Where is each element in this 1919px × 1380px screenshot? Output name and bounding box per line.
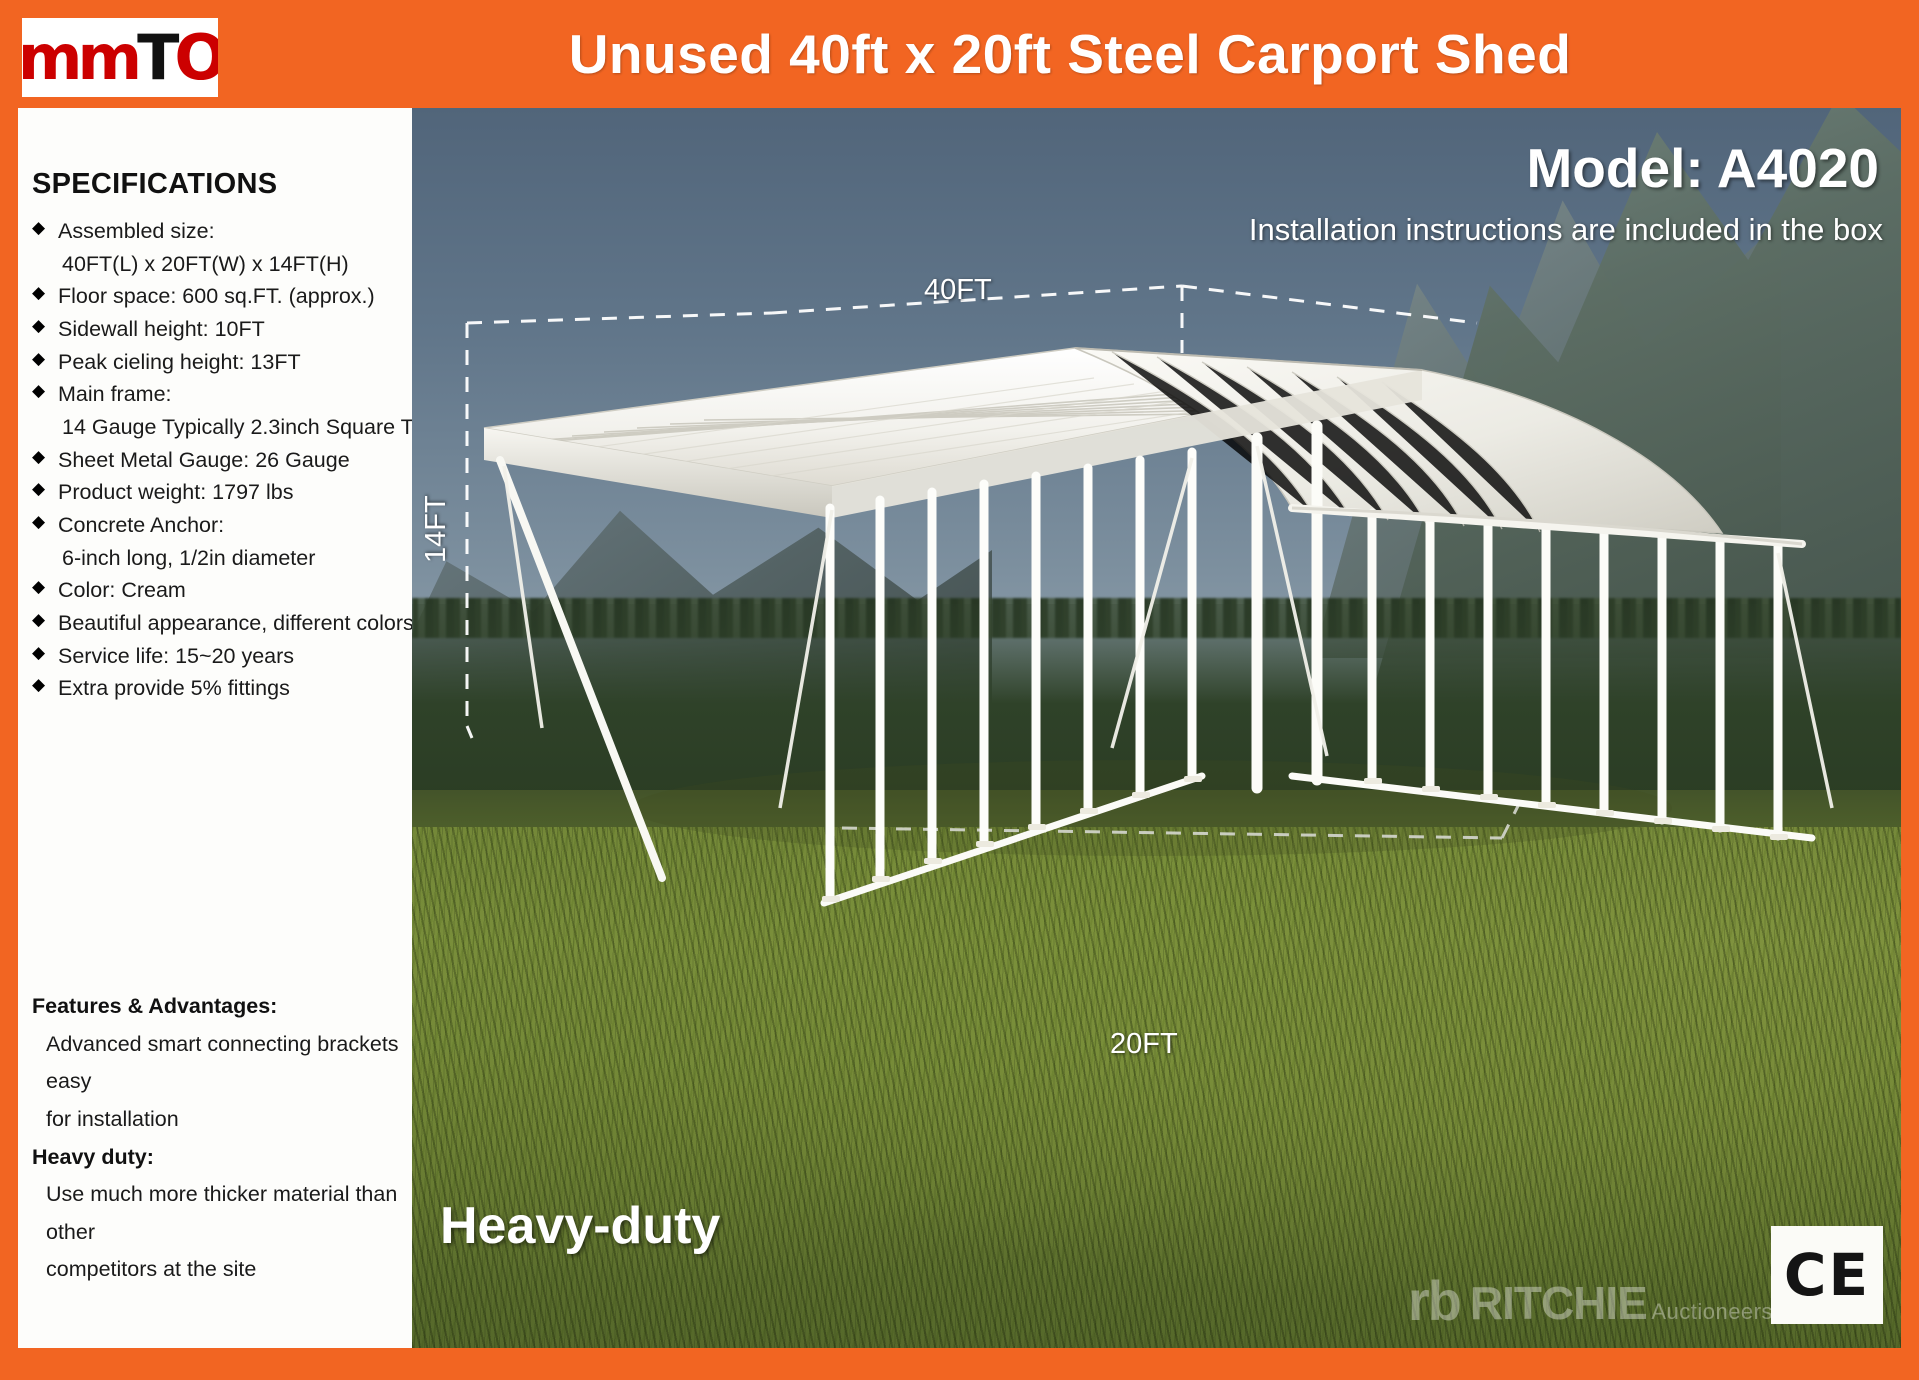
brand-logo: mmTO (22, 18, 218, 97)
logo-letter-m2: m (78, 21, 138, 94)
features-text-line: Advanced smart connecting brackets easy (32, 1026, 412, 1101)
specifications-panel: SPECIFICATIONS Assembled size: 40FT(L) x… (18, 108, 412, 1348)
features-heading: Features & Advantages: (32, 988, 412, 1026)
spec-item: Beautiful appearance, different colors (32, 607, 402, 640)
spec-item: Concrete Anchor: (32, 509, 402, 542)
features-text-line: for installation (32, 1101, 412, 1139)
spec-item: Assembled size: (32, 215, 402, 248)
model-label: Model: A4020 (1526, 136, 1879, 200)
heavy-duty-badge: Heavy-duty (440, 1196, 720, 1256)
features-section: Features & Advantages: Advanced smart co… (32, 988, 412, 1289)
carport-illustration (412, 108, 1901, 1348)
dimension-label-length: 40FT (924, 274, 992, 307)
poster-root: mmTO Unused 40ft x 20ft Steel Carport Sh… (0, 0, 1919, 1380)
spec-item: Sheet Metal Gauge: 26 Gauge (32, 444, 402, 477)
product-photo: 40FT 20FT 14FT Model: A4020 Installation… (412, 108, 1901, 1348)
ce-mark-text: CE (1784, 1241, 1870, 1309)
heavy-duty-heading: Heavy duty: (32, 1139, 412, 1177)
spec-item-continuation: 6-inch long, 1/2in diameter (32, 542, 402, 575)
logo-letter-m: m (22, 21, 78, 94)
spec-item-continuation: 14 Gauge Typically 2.3inch Square Tube (32, 411, 402, 444)
logo-wordmark: mmTO (22, 27, 218, 89)
header-bar: mmTO Unused 40ft x 20ft Steel Carport Sh… (0, 0, 1919, 108)
specifications-heading: SPECIFICATIONS (32, 168, 402, 201)
spec-item-continuation: 40FT(L) x 20FT(W) x 14FT(H) (32, 248, 402, 281)
page-title: Unused 40ft x 20ft Steel Carport Shed (250, 0, 1890, 108)
spec-item: Sidewall height: 10FT (32, 313, 402, 346)
spec-item: Service life: 15~20 years (32, 640, 402, 673)
logo-letter-t: T (137, 21, 174, 94)
spec-item: Peak cieling height: 13FT (32, 346, 402, 379)
dimension-label-height: 14FT (420, 495, 453, 563)
spec-item: Color: Cream (32, 574, 402, 607)
logo-letter-o: O (174, 21, 218, 94)
spec-item: Main frame: (32, 378, 402, 411)
dimension-label-width: 20FT (1110, 1028, 1178, 1061)
installation-note: Installation instructions are included i… (1249, 212, 1883, 248)
specifications-list: Assembled size: 40FT(L) x 20FT(W) x 14FT… (32, 215, 402, 705)
ce-mark-badge: CE (1771, 1226, 1883, 1324)
spec-item: Floor space: 600 sq.FT. (approx.) (32, 280, 402, 313)
heavy-duty-text-line: Use much more thicker material than othe… (32, 1176, 412, 1251)
spec-item: Extra provide 5% fittings (32, 672, 402, 705)
heavy-duty-text-line: competitors at the site (32, 1251, 412, 1289)
spec-item: Product weight: 1797 lbs (32, 476, 402, 509)
